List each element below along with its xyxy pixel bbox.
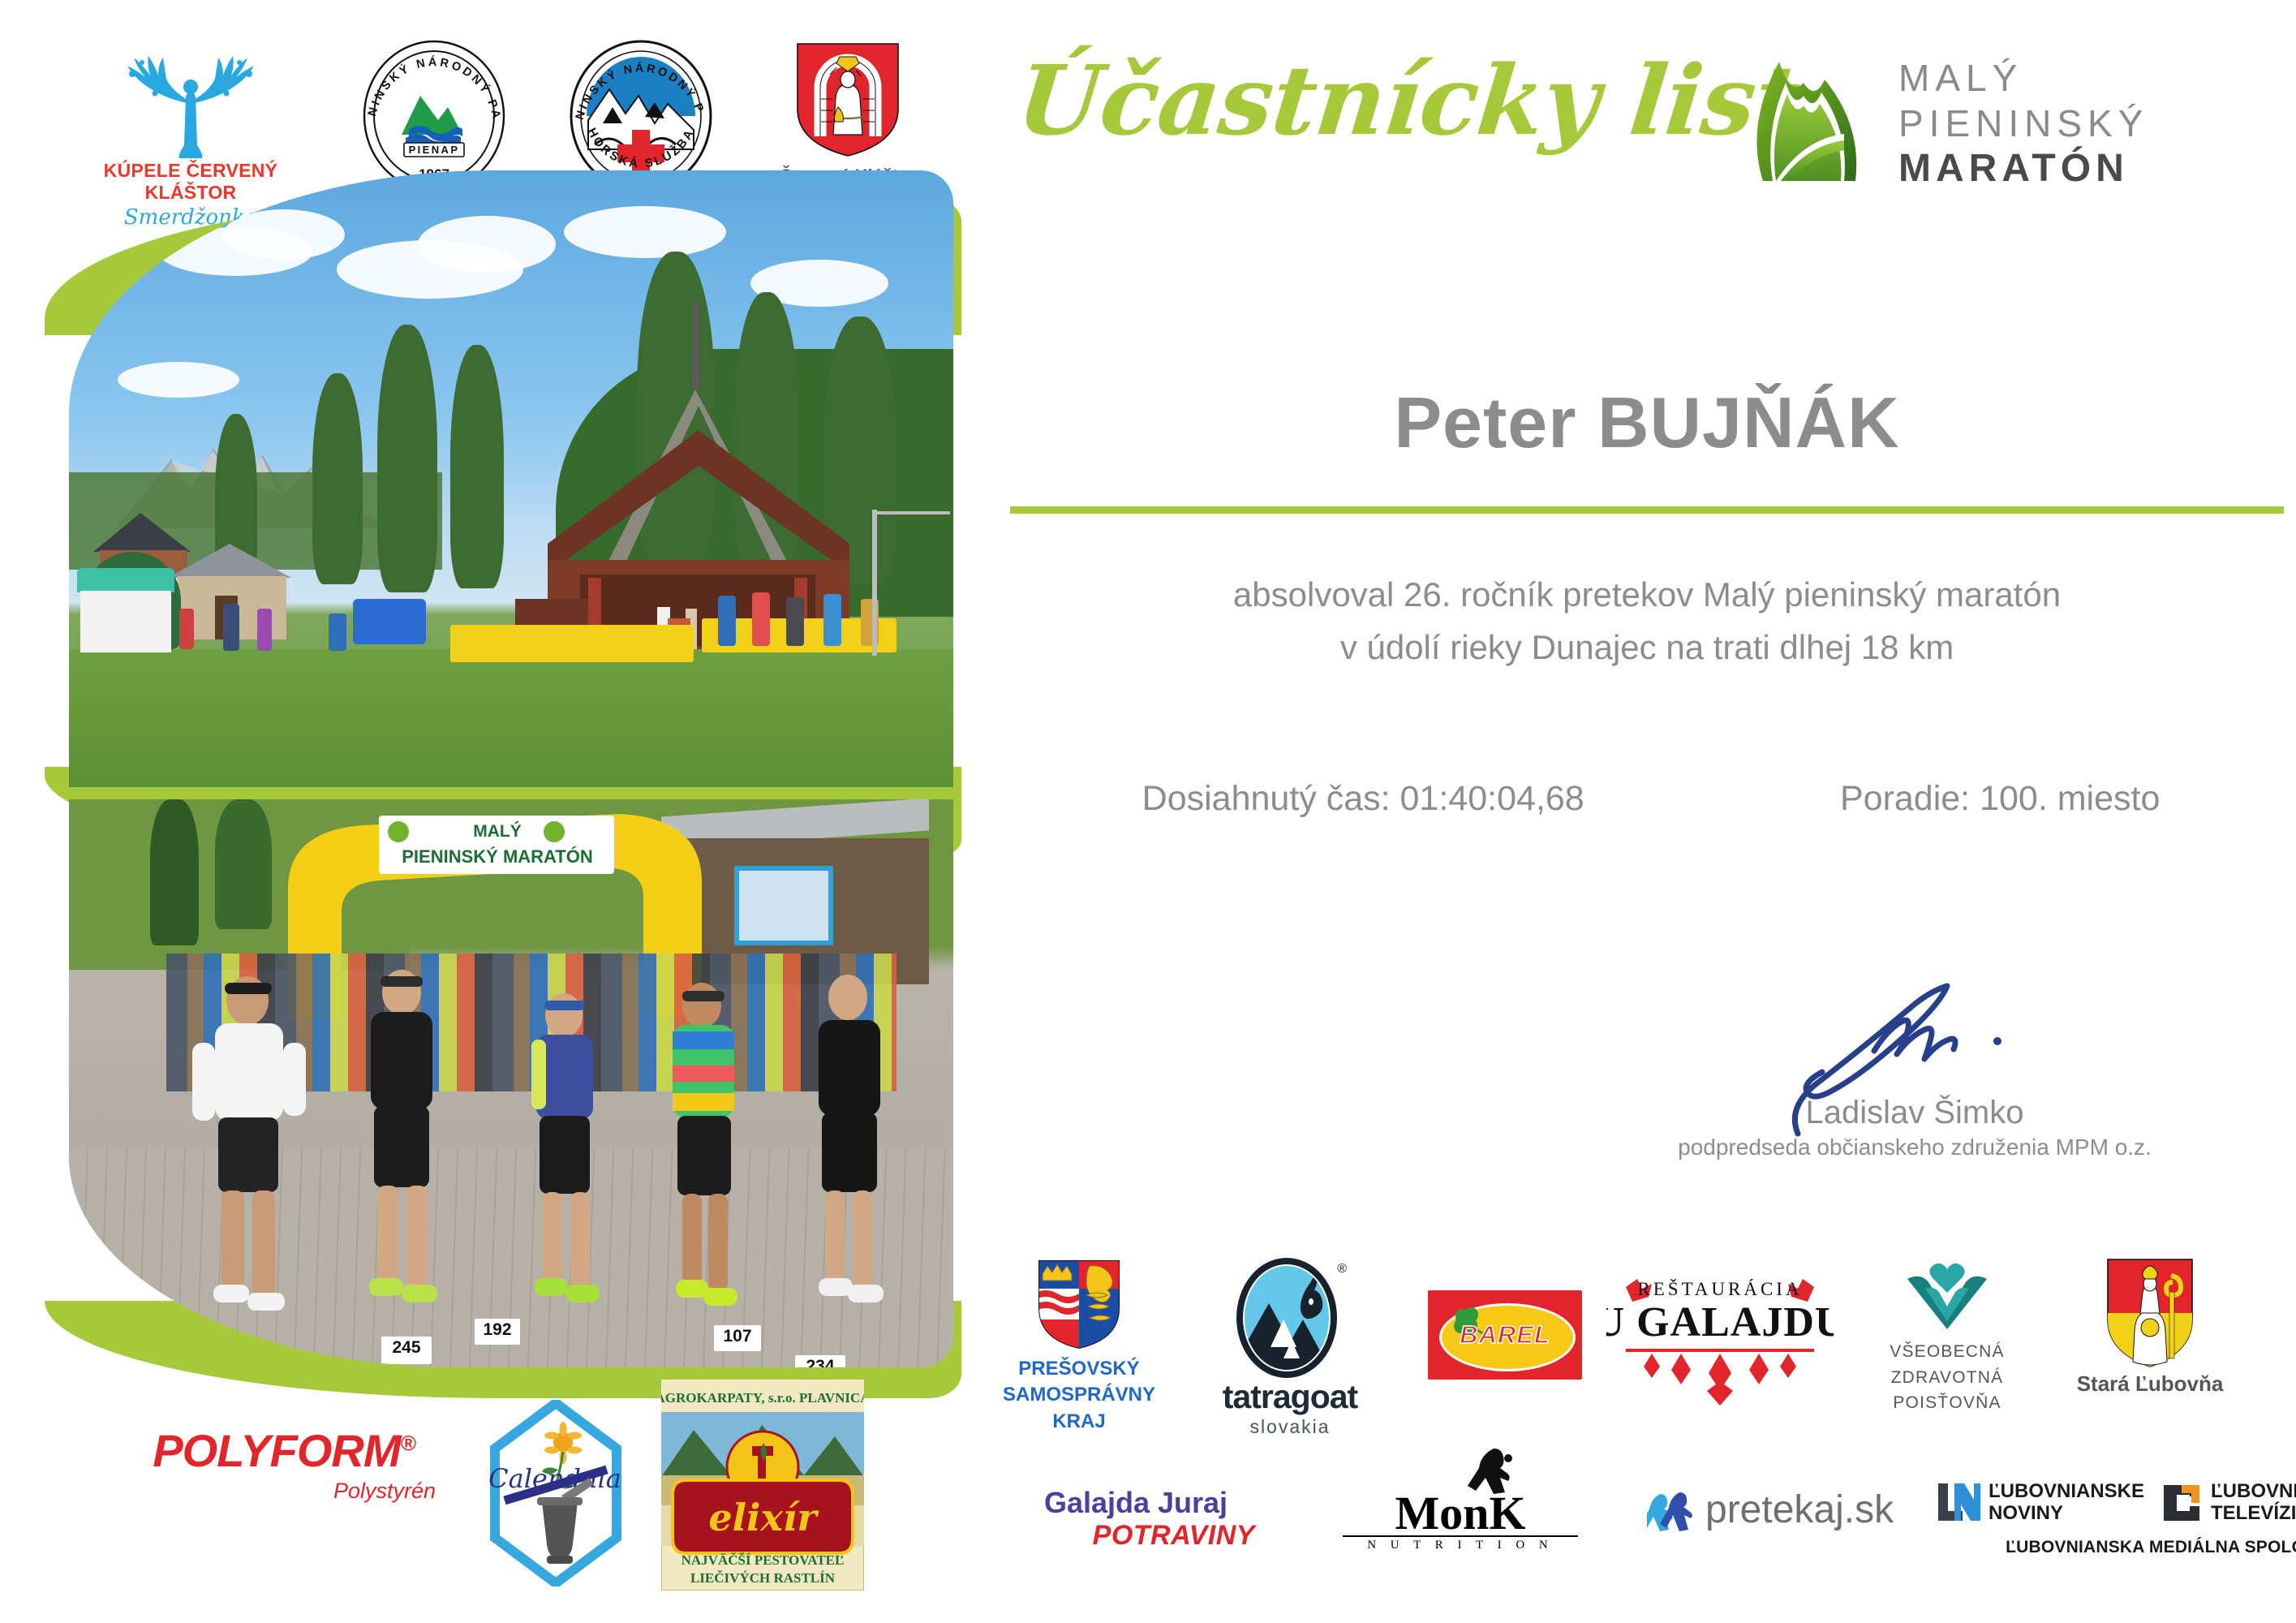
svg-text:elixír: elixír xyxy=(708,1496,819,1539)
mpm-brand-logo: MALÝ PIENINSKÝ MARATÓN xyxy=(1740,47,2259,193)
psk-line-2: SAMOSPRÁVNY xyxy=(994,1382,1164,1408)
sponsor-monk-nutrition: MonK N U T R I T I O N xyxy=(1343,1473,1578,1552)
mpm-line-2: PIENINSKÝ xyxy=(1898,101,2148,146)
lt-monogram-icon xyxy=(2161,1482,2203,1524)
signatory-role: podpredseda občianskeho združenia MPM o.… xyxy=(1631,1134,2199,1160)
sponsor-pretekaj: pretekaj.sk xyxy=(1647,1487,1907,1532)
pretekaj-name: pretekaj.sk xyxy=(1705,1487,1907,1532)
runners-icon xyxy=(1647,1491,1697,1543)
ln-line-1: ĽUBOVNIANSKE xyxy=(1989,1481,2144,1503)
description-line-2: v údolí rieky Dunajec na trati dlhej 18 … xyxy=(1014,621,2280,674)
svg-text:NAJVÄČŠÍ PESTOVATEĽ: NAJVÄČŠÍ PESTOVATEĽ xyxy=(681,1552,845,1568)
mpm-line-3: MARATÓN xyxy=(1898,146,2148,192)
description-line-1: absolvoval 26. ročník pretekov Malý pien… xyxy=(1014,568,2280,621)
monk-sub: N U T R I T I O N xyxy=(1343,1535,1578,1552)
monk-name: MonK xyxy=(1343,1491,1578,1535)
shield-crest-icon xyxy=(1034,1258,1124,1351)
svg-text:MALÝ: MALÝ xyxy=(473,821,522,841)
sponsor-row-bottom: Galajda Juraj POTRAVINY MonK N U T R I T… xyxy=(986,1473,2284,1619)
mpm-wordmark: MALÝ PIENINSKÝ MARATÓN xyxy=(1898,55,2148,192)
svg-text:PIENINSKÝ MARATÓN: PIENINSKÝ MARATÓN xyxy=(402,846,593,867)
result-row: Dosiahnutý čas: 01:40:04,68 Poradie: 100… xyxy=(1014,779,2288,819)
heart-chevron-icon xyxy=(1903,1259,1992,1332)
photo-collage: MALÝ PIENINSKÝ MARATÓN xyxy=(45,150,961,1392)
sponsor-tatragoat: ® tatragoat slovakia xyxy=(1201,1256,1379,1438)
sponsor-lubovnianska-media: ĽUBOVNIANSKE NOVINY ĽUBOVNIANSKA TELEVÍZ… xyxy=(1935,1481,2296,1557)
galajda-line-2: POTRAVINY xyxy=(1002,1520,1270,1552)
polyform-tagline: Polystyrén xyxy=(110,1479,458,1504)
ln-line-2: NOVINY xyxy=(1989,1503,2144,1525)
polyform-name: POLYFORM® xyxy=(110,1424,458,1477)
vszp-line-2: ZDRAVOTNÁ xyxy=(1866,1365,2028,1391)
mountain-leaf-icon xyxy=(1740,47,1878,181)
galajda-line-1: Galajda Juraj xyxy=(1002,1486,1270,1520)
tatragoat-sub: slovakia xyxy=(1201,1416,1379,1438)
participant-description: absolvoval 26. ročník pretekov Malý pien… xyxy=(1014,568,2280,674)
sponsor-agrokarpaty: AGROKARPATY, s.r.o. PLAVNICA elixír NAJV… xyxy=(661,1380,864,1591)
lt-line-2: TELEVÍZIA xyxy=(2211,1503,2296,1525)
svg-text:AGROKARPATY, s.r.o. PLAVNICA: AGROKARPATY, s.r.o. PLAVNICA xyxy=(661,1390,864,1406)
handwritten-signature-icon xyxy=(1631,994,2199,1108)
svg-text:REŠTAURÁCIA: REŠTAURÁCIA xyxy=(1637,1278,1802,1299)
water-angel-icon xyxy=(85,45,296,158)
running-monk-icon xyxy=(1466,1447,1523,1494)
certificate-title: Účastnícky list xyxy=(1018,53,1748,183)
runner-bib: 245 xyxy=(381,1337,432,1364)
sponsor-row-mid: PREŠOVSKÝ SAMOSPRÁVNY KRAJ ® tatragoat s… xyxy=(986,1250,2284,1453)
registered-mark-icon: ® xyxy=(401,1431,415,1455)
vszp-line-1: VŠEOBECNÁ xyxy=(1866,1339,2028,1365)
svg-text:U GALAJDU: U GALAJDU xyxy=(1606,1299,1834,1345)
goat-mountain-icon: ® xyxy=(1225,1256,1355,1378)
coat-of-arms-icon xyxy=(783,39,913,161)
runner-bib: 107 xyxy=(714,1325,761,1351)
ln-monogram-icon xyxy=(1935,1482,1980,1524)
sponsor-presovsky-kraj: PREŠOVSKÝ SAMOSPRÁVNY KRAJ xyxy=(994,1258,1164,1435)
bishop-crest-icon xyxy=(2101,1256,2199,1370)
sponsor-galajda-juraj: Galajda Juraj POTRAVINY xyxy=(1002,1486,1270,1552)
mortar-flower-icon: Calendula xyxy=(487,1400,625,1586)
runner-bib: 234 xyxy=(795,1355,845,1367)
lt-line-1: ĽUBOVNIANSKA xyxy=(2211,1481,2296,1503)
finish-time: Dosiahnutý čas: 01:40:04,68 xyxy=(1142,779,1584,819)
vszp-line-3: POISŤOVŇA xyxy=(1866,1390,2028,1416)
svg-text:LIEČIVÝCH RASTLÍN: LIEČIVÝCH RASTLÍN xyxy=(690,1570,836,1586)
certificate-title-text: Účastnícky list xyxy=(1013,53,1753,149)
psk-line-1: PREŠOVSKÝ xyxy=(994,1356,1164,1382)
folk-ornament-icon: REŠTAURÁCIA U GALAJDU xyxy=(1606,1268,1834,1406)
accent-divider xyxy=(1010,506,2284,514)
svg-text:®: ® xyxy=(1337,1262,1347,1276)
psk-line-3: KRAJ xyxy=(994,1409,1164,1435)
media-company-line: ĽUBOVNIANSKA MEDIÁLNA SPOLOČNOSŤ, s.r.o. xyxy=(1935,1538,2296,1557)
sponsor-stara-lubovna: Stará Ľubovňa xyxy=(2061,1256,2239,1397)
sponsor-polyform: POLYFORM® Polystyrén xyxy=(110,1424,458,1504)
venue-photo xyxy=(69,170,953,787)
participant-name: Peter BUJŇÁK xyxy=(1014,381,2280,464)
sponsor-vszp: VŠEOBECNÁ ZDRAVOTNÁ POISŤOVŇA xyxy=(1866,1259,2028,1416)
sponsor-calendula: Calendula xyxy=(487,1400,625,1586)
finish-rank: Poradie: 100. miesto xyxy=(1840,779,2160,819)
race-start-photo: MALÝ PIENINSKÝ MARATÓN xyxy=(69,799,953,1367)
barel-name: BAREL xyxy=(1428,1290,1582,1380)
svg-text:Calendula: Calendula xyxy=(488,1463,621,1494)
mpm-line-1: MALÝ xyxy=(1898,55,2148,101)
tatragoat-name: tatragoat xyxy=(1201,1378,1379,1416)
sponsor-barel: BAREL xyxy=(1424,1290,1586,1380)
runner-bib: 192 xyxy=(475,1319,520,1345)
signature-block: Ladislav Šimko podpredseda občianskeho z… xyxy=(1631,994,2199,1160)
stara-lubovna-caption: Stará Ľubovňa xyxy=(2061,1371,2239,1397)
sponsor-u-galajdu: REŠTAURÁCIA U GALAJDU xyxy=(1602,1268,1838,1406)
